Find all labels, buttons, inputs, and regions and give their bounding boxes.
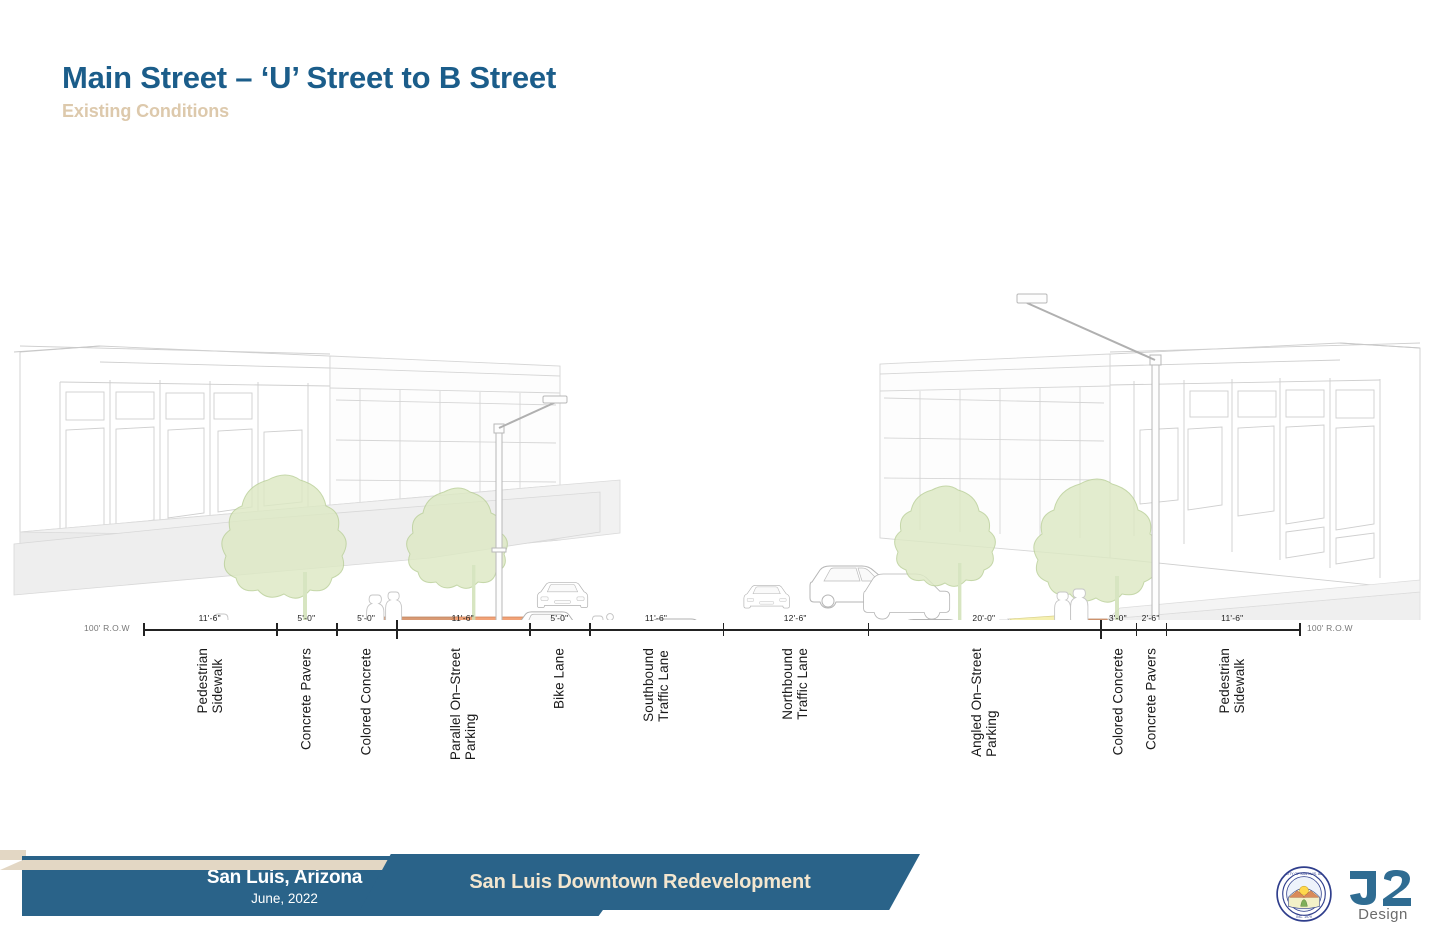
dimension-line: [1100, 629, 1136, 631]
segment-label: Pedestrian Sidewalk: [195, 648, 225, 714]
page-title: Main Street – ‘U’ Street to B Street: [62, 60, 556, 96]
footer-logos: CITY OF SAN LUIS, AZ INC. 1979 Design: [1276, 865, 1422, 923]
dimension-tick: [336, 623, 338, 636]
dimension-tick: [1299, 623, 1301, 636]
dimension-tick: [868, 623, 870, 636]
dimension-tick: [589, 623, 591, 636]
segment-label: Angled On–Street Parking: [969, 648, 999, 757]
row-left-label: 100' R.O.W: [84, 623, 130, 633]
segment-label: Colored Concrete: [1110, 648, 1125, 755]
dimension-line: [336, 629, 396, 631]
j2-mark-icon: [1344, 865, 1422, 909]
segment-label: Bike Lane: [552, 648, 567, 709]
dimension-tick: [1166, 623, 1168, 636]
footer-project-block: San Luis Downtown Redevelopment: [360, 854, 920, 910]
dimension-tick: [396, 620, 398, 639]
dimension-tick: [1136, 623, 1138, 636]
svg-text:CITY OF SAN LUIS, AZ: CITY OF SAN LUIS, AZ: [1286, 872, 1323, 876]
city-seal-logo: CITY OF SAN LUIS, AZ INC. 1979: [1276, 866, 1332, 922]
segment-label: Concrete Pavers: [1143, 648, 1158, 750]
dimension-tick: [529, 623, 531, 636]
segment-label: Northbound Traffic Lane: [780, 648, 810, 720]
page-subtitle: Existing Conditions: [62, 101, 556, 122]
dimension-line: [1166, 629, 1299, 631]
dimension-label: 5'-0": [357, 613, 375, 623]
dimension-line: [1136, 629, 1166, 631]
dimension-label: 3'-0": [1109, 613, 1127, 623]
dimension-label: 2'-6": [1142, 613, 1160, 623]
dimension-line: [529, 629, 589, 631]
dimension-label: 11'-6": [645, 613, 667, 623]
dimension-line: [723, 629, 868, 631]
dimension-label: 11'-6": [1221, 613, 1243, 623]
dimension-tick: [723, 623, 725, 636]
dimension-label: 12'-6": [784, 613, 807, 623]
page-footer: San Luis, Arizona June, 2022 San Luis Do…: [0, 850, 1440, 932]
segment-label: Concrete Pavers: [299, 648, 314, 750]
dimension-line: [868, 629, 1100, 631]
street-section-rendering: Curb & Gutter Curb & Gutter: [0, 140, 1440, 620]
dimension-label: 5'-0": [297, 613, 315, 623]
dimension-tick: [1100, 620, 1102, 639]
segment-label: Parallel On–Street Parking: [448, 648, 478, 760]
footer-date: June, 2022: [251, 891, 318, 906]
dimension-line: [589, 629, 722, 631]
page-header: Main Street – ‘U’ Street to B Street Exi…: [62, 60, 556, 122]
dimension-strip: 100' R.O.W 100' R.O.W 11'-6"Pedestrian S…: [0, 612, 1440, 812]
segment-label: Pedestrian Sidewalk: [1217, 648, 1247, 714]
segment-label: Colored Concrete: [359, 648, 374, 755]
j2-design-wordmark: Design: [1358, 906, 1408, 923]
dimension-line: [276, 629, 336, 631]
dimension-line: [143, 629, 276, 631]
row-right-label: 100' R.O.W: [1307, 623, 1353, 633]
svg-text:INC. 1979: INC. 1979: [1296, 915, 1312, 919]
dimension-tick: [276, 623, 278, 636]
dimension-line: [396, 629, 529, 631]
dimension-label: 11'-6": [452, 613, 474, 623]
dimension-label: 11'-6": [199, 613, 221, 623]
footer-project-title: San Luis Downtown Redevelopment: [469, 871, 810, 894]
dimension-label: 20'-0": [972, 613, 995, 623]
dimension-tick: [143, 623, 145, 636]
j2-design-logo: Design: [1344, 865, 1422, 923]
dimension-label: 5'-0": [550, 613, 568, 623]
segment-label: Southbound Traffic Lane: [641, 648, 671, 722]
